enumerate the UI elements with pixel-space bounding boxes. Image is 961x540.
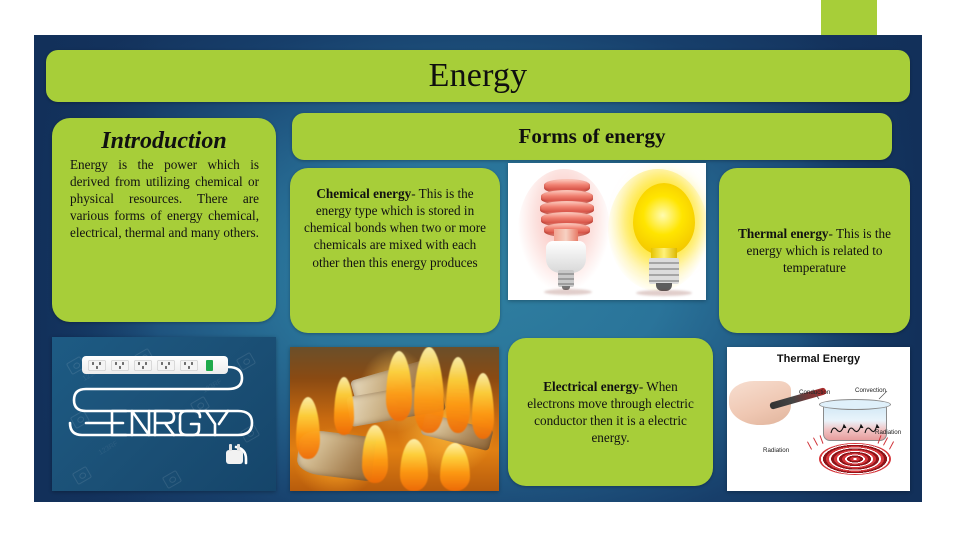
chemical-energy-dash: -: [411, 186, 418, 201]
power-switch-icon: [206, 360, 213, 371]
label-radiation-right: Radiation: [875, 429, 901, 436]
plug-icon: [226, 450, 243, 464]
socket-icon: [111, 360, 129, 371]
cfl-screw-thread: [558, 270, 574, 287]
light-bulbs-image: [508, 163, 706, 300]
socket-icon: [134, 360, 152, 371]
label-convection: Convection: [855, 387, 886, 394]
chemical-energy-text: Chemical energy- This is the energy type…: [290, 168, 500, 271]
introduction-heading: Introduction: [52, 128, 276, 155]
label-conduction: Conduction: [799, 389, 830, 396]
incandescent-shadow: [636, 290, 692, 296]
thermal-energy-card: Thermal energy- This is the energy which…: [719, 168, 910, 333]
thermal-arrows: [727, 347, 910, 491]
incandescent-bulb-icon: [633, 183, 695, 255]
slide: Energy Forms of energy Introduction Ener…: [0, 0, 961, 540]
socket-icon: [88, 360, 106, 371]
socket-icon: [180, 360, 198, 371]
cfl-shadow: [544, 289, 592, 295]
title-bar: Energy: [46, 50, 910, 102]
power-strip-icon: [82, 356, 228, 374]
thermal-energy-term: Thermal energy: [738, 226, 828, 241]
thermal-energy-text: Thermal energy- This is the energy which…: [719, 225, 910, 276]
introduction-body: Energy is the power which is derived fro…: [52, 157, 276, 241]
thermal-energy-diagram-image: Thermal Energy Conduction Convection Rad…: [727, 347, 910, 491]
forms-of-energy-heading: Forms of energy: [519, 124, 666, 149]
chemical-energy-card: Chemical energy- This is the energy type…: [290, 168, 500, 333]
socket-icon: [157, 360, 175, 371]
introduction-card: Introduction Energy is the power which i…: [52, 118, 276, 322]
cfl-base: [546, 241, 586, 273]
power-strip-energy-image: 123RF 123RF 123RF: [52, 337, 276, 491]
incandescent-screw-thread: [649, 258, 679, 284]
electrical-energy-card: Electrical energy- When electrons move t…: [508, 338, 713, 486]
chemical-energy-term: Chemical energy: [316, 186, 411, 201]
fire-image: [290, 347, 499, 491]
label-radiation-left: Radiation: [763, 447, 789, 454]
thermal-energy-dash: -: [829, 226, 836, 241]
electrical-energy-text: Electrical energy- When electrons move t…: [508, 378, 713, 447]
forms-of-energy-bar: Forms of energy: [292, 113, 892, 160]
page-title: Energy: [429, 57, 528, 95]
electrical-energy-term: Electrical energy: [543, 379, 639, 394]
light-bulbs-illustration: [508, 163, 706, 300]
